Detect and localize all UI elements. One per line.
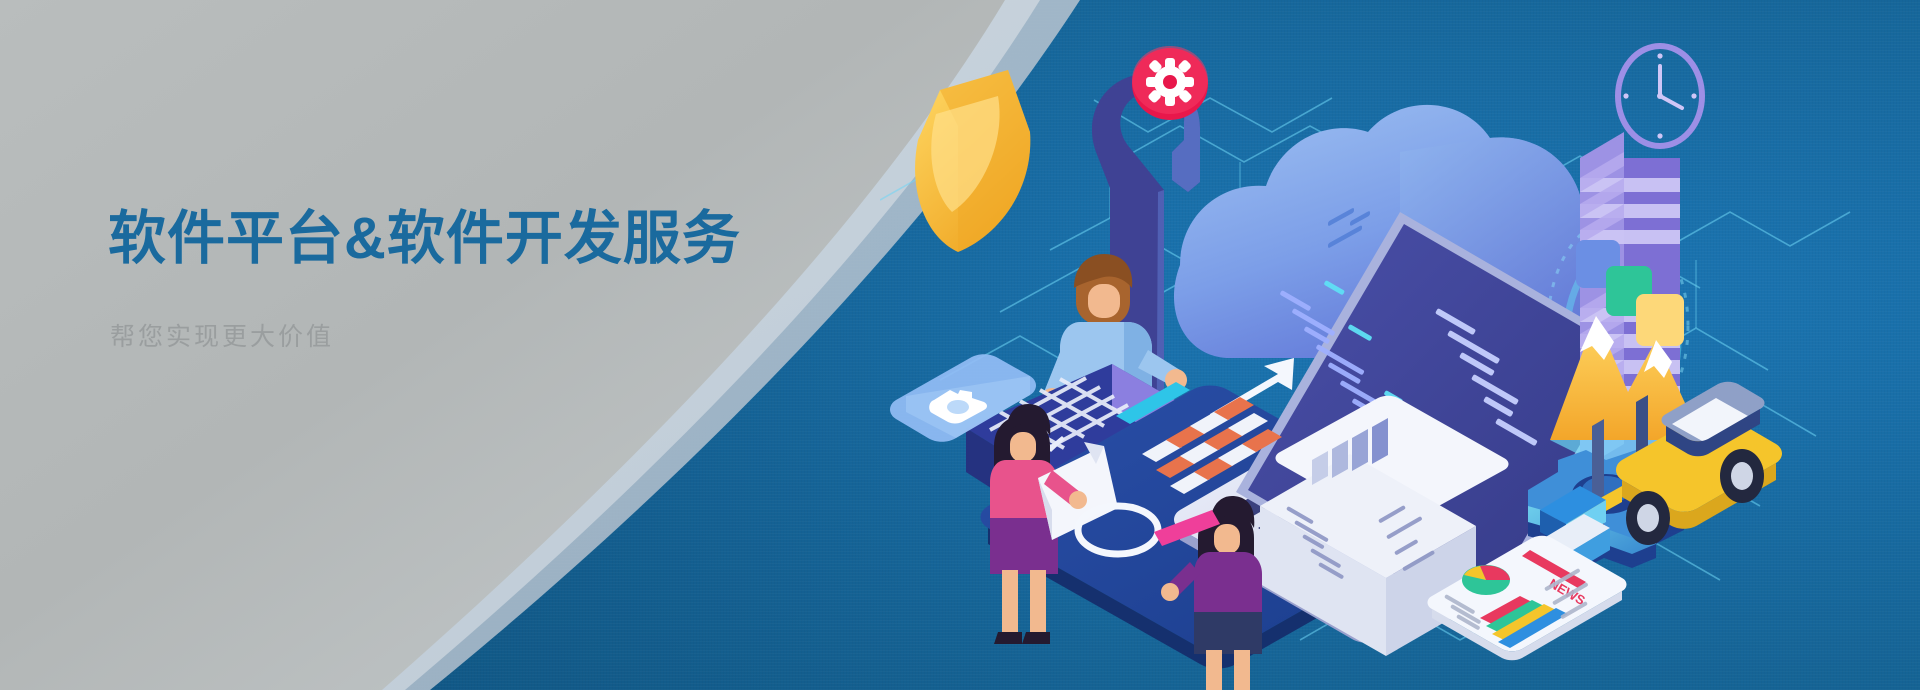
clock-icon: [1618, 46, 1702, 146]
hero-illustration: NEWS: [880, 40, 1920, 690]
banner-copy: 软件平台&软件开发服务 帮您实现更大价值: [108, 204, 868, 353]
hero-banner: 软件平台&软件开发服务 帮您实现更大价值: [0, 0, 1920, 690]
shield-icon: [915, 70, 1030, 252]
news-pie-chart: [1462, 565, 1510, 595]
gear-badge-icon: [1132, 46, 1208, 120]
page-title: 软件平台&软件开发服务: [108, 204, 868, 275]
page-subtitle: 帮您实现更大价值: [110, 317, 868, 353]
